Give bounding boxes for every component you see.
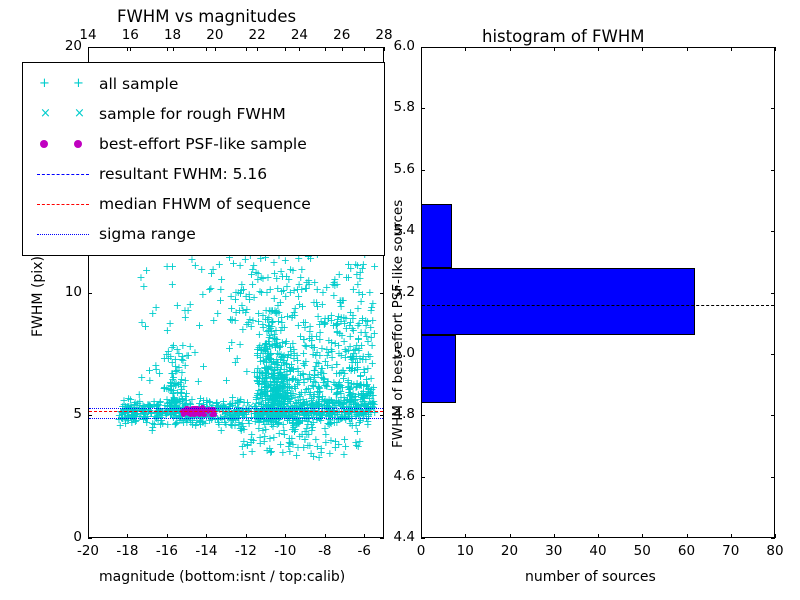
sample-point: + bbox=[304, 275, 313, 286]
hist-x-tick-label: 60 bbox=[671, 543, 703, 559]
sample-point: + bbox=[295, 279, 304, 290]
sample-point: + bbox=[331, 436, 340, 447]
sample-point: + bbox=[231, 294, 240, 305]
top-x-tick bbox=[257, 47, 258, 51]
sample-point: + bbox=[166, 318, 175, 329]
hist-x-tick-top bbox=[465, 47, 466, 51]
median-fwhm-line bbox=[89, 411, 383, 412]
sample-point: + bbox=[142, 265, 151, 276]
sample-point: + bbox=[370, 261, 379, 272]
hist-y-tick-label: 5.6 bbox=[377, 161, 415, 177]
hist-y-tick-right bbox=[771, 108, 775, 109]
top-x-tick bbox=[173, 47, 174, 51]
x-tick-top-inner bbox=[364, 47, 365, 51]
hist-y-tick-label: 5.8 bbox=[377, 99, 415, 115]
hist-x-tick-label: 80 bbox=[759, 543, 791, 559]
y-tick bbox=[88, 47, 92, 48]
sample-point: + bbox=[242, 366, 251, 377]
sample-point: + bbox=[287, 433, 296, 444]
sample-point: + bbox=[354, 345, 363, 356]
sample-point: + bbox=[355, 273, 364, 284]
sample-point: + bbox=[229, 258, 238, 269]
sample-point: + bbox=[239, 449, 248, 460]
sample-point: + bbox=[353, 426, 362, 437]
sample-point: + bbox=[255, 432, 264, 443]
hist-y-tick bbox=[421, 47, 425, 48]
sample-point: + bbox=[288, 310, 297, 321]
hist-y-tick-right bbox=[771, 170, 775, 171]
hist-x-tick-top bbox=[687, 47, 688, 51]
sample-point: + bbox=[291, 374, 300, 385]
hist-y-tick-right bbox=[771, 477, 775, 478]
sample-point: + bbox=[310, 342, 319, 353]
legend-item: sigma range bbox=[23, 221, 386, 251]
hist-y-tick bbox=[421, 415, 425, 416]
sample-point: + bbox=[341, 313, 350, 324]
histogram-xlabel: number of sources bbox=[525, 569, 656, 585]
sample-point: + bbox=[217, 425, 226, 436]
sample-point: + bbox=[279, 382, 288, 393]
legend-item: resultant FWHM: 5.16 bbox=[23, 161, 386, 191]
sample-point: + bbox=[359, 259, 368, 270]
sample-point: + bbox=[354, 441, 363, 452]
sample-point: + bbox=[156, 419, 165, 430]
hist-x-tick bbox=[731, 534, 732, 538]
sample-point: + bbox=[139, 281, 148, 292]
y-tick-label: 5 bbox=[54, 406, 82, 422]
hist-x-tick-label: 20 bbox=[494, 543, 526, 559]
scatter-xlabel: magnitude (bottom:isnt / top:calib) bbox=[99, 569, 345, 585]
scatter-ylabel: FWHM (pix) bbox=[30, 256, 46, 337]
sample-point: + bbox=[344, 259, 353, 270]
sample-point: + bbox=[237, 423, 246, 434]
top-x-tick-label: 16 bbox=[116, 27, 144, 43]
y-tick bbox=[88, 293, 92, 294]
sample-point: + bbox=[341, 441, 350, 452]
x-tick-top-inner bbox=[246, 47, 247, 51]
x-tick-top-inner bbox=[206, 47, 207, 51]
sample-point: + bbox=[317, 447, 326, 458]
legend-item-label: median FHWM of sequence bbox=[99, 195, 311, 213]
sample-point: + bbox=[266, 349, 275, 360]
x-tick bbox=[285, 534, 286, 538]
top-x-tick-label: 18 bbox=[159, 27, 187, 43]
sample-point: + bbox=[273, 364, 282, 375]
hist-y-tick-label: 5.0 bbox=[377, 345, 415, 361]
sample-point: + bbox=[337, 367, 346, 378]
sample-point: + bbox=[323, 350, 332, 361]
sample-point: + bbox=[254, 385, 263, 396]
x-tick-label: -8 bbox=[309, 543, 341, 559]
legend-item: median FHWM of sequence bbox=[23, 191, 386, 221]
sample-point: + bbox=[248, 315, 257, 326]
sample-point: + bbox=[301, 317, 310, 328]
legend-x-icon: × bbox=[74, 107, 85, 121]
y-tick bbox=[88, 415, 92, 416]
sample-point: + bbox=[228, 314, 237, 325]
sample-point: + bbox=[194, 376, 203, 387]
sample-point: + bbox=[169, 340, 178, 351]
sample-point: + bbox=[199, 361, 208, 372]
sample-point: + bbox=[270, 268, 279, 279]
sample-point: + bbox=[299, 348, 308, 359]
sample-point: + bbox=[206, 283, 215, 294]
sample-point: + bbox=[344, 272, 353, 283]
hist-x-tick-top bbox=[598, 47, 599, 51]
x-tick bbox=[246, 534, 247, 538]
sample-point: + bbox=[168, 368, 177, 379]
top-x-tick bbox=[215, 47, 216, 51]
histogram-bar bbox=[421, 335, 456, 403]
sample-point: + bbox=[137, 317, 146, 328]
top-x-tick bbox=[342, 47, 343, 51]
hist-x-tick-top bbox=[642, 47, 643, 51]
hist-y-tick-label: 5.2 bbox=[377, 284, 415, 300]
sample-point: + bbox=[357, 296, 366, 307]
sample-point: + bbox=[238, 324, 247, 335]
hist-x-tick bbox=[554, 534, 555, 538]
sample-point: + bbox=[186, 299, 195, 310]
hist-x-tick-label: 30 bbox=[538, 543, 570, 559]
hist-x-tick-top bbox=[775, 47, 776, 51]
sample-point: + bbox=[368, 315, 377, 326]
sample-point: + bbox=[361, 327, 370, 338]
sample-point: + bbox=[145, 375, 154, 386]
legend-dashdot-line-icon bbox=[37, 234, 89, 235]
hist-x-tick bbox=[775, 534, 776, 538]
hist-x-tick-label: 70 bbox=[715, 543, 747, 559]
hist-y-tick-label: 4.4 bbox=[377, 529, 415, 545]
sample-point: + bbox=[239, 284, 248, 295]
sample-point: + bbox=[289, 420, 298, 431]
hist-y-tick-right bbox=[771, 354, 775, 355]
sample-point: + bbox=[255, 329, 264, 340]
legend-item-label: best-effort PSF-like sample bbox=[99, 135, 307, 153]
x-tick-top-inner bbox=[167, 47, 168, 51]
hist-y-tick-right bbox=[771, 415, 775, 416]
x-tick-top-inner bbox=[325, 47, 326, 51]
hist-x-tick-top bbox=[554, 47, 555, 51]
rough-sample-point: × bbox=[251, 401, 259, 411]
sample-point: + bbox=[146, 400, 155, 411]
sample-point: + bbox=[209, 315, 218, 326]
histogram-panel-title: histogram of FWHM bbox=[482, 27, 645, 46]
sample-point: + bbox=[274, 418, 283, 429]
sample-point: + bbox=[281, 255, 290, 266]
sample-point: + bbox=[197, 264, 206, 275]
legend-item: ++all sample bbox=[23, 71, 386, 101]
hist-y-tick-label: 6.0 bbox=[377, 38, 415, 54]
top-x-tick bbox=[299, 47, 300, 51]
sample-point: + bbox=[163, 261, 172, 272]
sigma-upper-line bbox=[89, 408, 383, 409]
x-tick-label: -6 bbox=[348, 543, 380, 559]
legend-dashed-line-icon bbox=[37, 174, 89, 175]
sample-point: + bbox=[312, 331, 321, 342]
sample-point: + bbox=[125, 404, 134, 415]
legend-plus-icon: + bbox=[73, 77, 84, 91]
x-tick-label: -14 bbox=[190, 543, 222, 559]
hist-x-tick-top bbox=[510, 47, 511, 51]
x-tick-label: -10 bbox=[269, 543, 301, 559]
sample-point: + bbox=[357, 390, 366, 401]
x-tick-label: -20 bbox=[72, 543, 104, 559]
x-tick-label: -16 bbox=[151, 543, 183, 559]
sample-point: + bbox=[269, 257, 278, 268]
y-tick-label: 0 bbox=[54, 529, 82, 545]
sample-point: + bbox=[316, 316, 325, 327]
sample-point: + bbox=[195, 320, 204, 331]
sample-point: + bbox=[270, 305, 279, 316]
sample-point: + bbox=[222, 375, 231, 386]
sample-point: + bbox=[243, 439, 252, 450]
histogram-panel: histogram of FWHM number of sources FWHM… bbox=[400, 0, 800, 600]
x-tick bbox=[364, 534, 365, 538]
hist-x-tick-label: 50 bbox=[626, 543, 658, 559]
x-tick bbox=[167, 534, 168, 538]
sample-point: + bbox=[151, 360, 160, 371]
sample-point: + bbox=[333, 381, 342, 392]
x-tick bbox=[127, 534, 128, 538]
sample-point: + bbox=[299, 442, 308, 453]
sample-point: + bbox=[324, 335, 333, 346]
hist-y-tick-label: 4.6 bbox=[377, 468, 415, 484]
sample-point: + bbox=[266, 284, 275, 295]
hist-y-tick bbox=[421, 477, 425, 478]
sample-point: + bbox=[285, 362, 294, 373]
legend-dot-icon bbox=[74, 140, 82, 148]
sample-point: + bbox=[350, 365, 359, 376]
hist-x-tick bbox=[510, 534, 511, 538]
sample-point: + bbox=[345, 396, 354, 407]
y-tick-label: 10 bbox=[54, 284, 82, 300]
hist-y-tick-label: 4.8 bbox=[377, 406, 415, 422]
hist-y-tick-right bbox=[771, 293, 775, 294]
top-x-tick-label: 20 bbox=[201, 27, 229, 43]
sample-point: + bbox=[216, 284, 225, 295]
x-tick-label: -18 bbox=[111, 543, 143, 559]
hist-x-tick-label: 0 bbox=[405, 543, 437, 559]
scatter-panel-title: FWHM vs magnitudes bbox=[117, 7, 296, 26]
sample-point: + bbox=[173, 395, 182, 406]
sample-point: + bbox=[358, 313, 367, 324]
histogram-median-line bbox=[422, 305, 774, 306]
sample-point: + bbox=[152, 302, 161, 313]
hist-x-tick bbox=[598, 534, 599, 538]
sample-point: + bbox=[236, 339, 245, 350]
sample-point: + bbox=[186, 341, 195, 352]
sample-point: + bbox=[304, 429, 313, 440]
hist-y-tick-right bbox=[771, 231, 775, 232]
x-tick-top-inner bbox=[285, 47, 286, 51]
sample-point: + bbox=[233, 353, 242, 364]
sample-point: + bbox=[286, 287, 295, 298]
sample-point: + bbox=[310, 372, 319, 383]
legend-dot-icon bbox=[40, 140, 48, 148]
histogram-bar bbox=[421, 204, 452, 268]
legend-item-label: sigma range bbox=[99, 225, 196, 243]
x-tick bbox=[325, 534, 326, 538]
psf-sample-point bbox=[181, 412, 186, 417]
x-tick-label: -12 bbox=[230, 543, 262, 559]
hist-y-tick bbox=[421, 108, 425, 109]
sample-point: + bbox=[322, 381, 331, 392]
sample-point: + bbox=[257, 287, 266, 298]
legend-item-label: sample for rough FWHM bbox=[99, 105, 286, 123]
sample-point: + bbox=[277, 286, 286, 297]
x-tick-top-inner bbox=[127, 47, 128, 51]
hist-x-tick-top bbox=[731, 47, 732, 51]
hist-y-tick-right bbox=[771, 538, 775, 539]
sample-point: + bbox=[298, 301, 307, 312]
sigma-lower-line bbox=[89, 418, 383, 419]
top-x-tick-label: 24 bbox=[285, 27, 313, 43]
sample-point: + bbox=[341, 344, 350, 355]
y-tick bbox=[88, 538, 92, 539]
hist-x-tick bbox=[642, 534, 643, 538]
legend-box: ++all sample××sample for rough FWHMbest-… bbox=[22, 62, 385, 256]
histogram-bar bbox=[421, 268, 695, 336]
legend-item: best-effort PSF-like sample bbox=[23, 131, 386, 161]
sample-point: + bbox=[313, 284, 322, 295]
sample-point: + bbox=[247, 269, 256, 280]
hist-x-tick bbox=[465, 534, 466, 538]
top-x-tick-label: 22 bbox=[243, 27, 271, 43]
rough-sample-point: × bbox=[266, 411, 274, 421]
hist-x-tick-label: 10 bbox=[449, 543, 481, 559]
x-tick bbox=[206, 534, 207, 538]
sample-point: + bbox=[269, 385, 278, 396]
sample-point: + bbox=[274, 316, 283, 327]
sample-point: + bbox=[284, 349, 293, 360]
legend-item-label: resultant FWHM: 5.16 bbox=[99, 165, 267, 183]
hist-y-tick bbox=[421, 170, 425, 171]
sample-point: + bbox=[306, 387, 315, 398]
sample-point: + bbox=[365, 351, 374, 362]
sample-point: + bbox=[164, 353, 173, 364]
top-x-tick bbox=[130, 47, 131, 51]
sample-point: + bbox=[329, 290, 338, 301]
hist-y-tick-right bbox=[771, 47, 775, 48]
legend-dashed-line-icon bbox=[37, 204, 89, 205]
sample-point: + bbox=[367, 302, 376, 313]
figure-canvas: FWHM vs magnitudes magnitude (bottom:isn… bbox=[0, 0, 800, 600]
legend-item: ××sample for rough FWHM bbox=[23, 101, 386, 131]
legend-x-icon: × bbox=[40, 107, 51, 121]
hist-x-tick-label: 40 bbox=[582, 543, 614, 559]
legend-item-label: all sample bbox=[99, 75, 178, 93]
sample-point: + bbox=[207, 268, 216, 279]
sample-point: + bbox=[325, 448, 334, 459]
legend-plus-icon: + bbox=[39, 77, 50, 91]
y-tick-label: 20 bbox=[54, 38, 82, 54]
sample-point: + bbox=[314, 358, 323, 369]
hist-y-tick bbox=[421, 538, 425, 539]
sample-point: + bbox=[309, 297, 318, 308]
hist-y-tick-label: 5.4 bbox=[377, 222, 415, 238]
top-x-tick-label: 26 bbox=[328, 27, 356, 43]
sample-point: + bbox=[216, 295, 225, 306]
hist-x-tick bbox=[687, 534, 688, 538]
sample-point: + bbox=[360, 367, 369, 378]
sample-point: + bbox=[168, 279, 177, 290]
